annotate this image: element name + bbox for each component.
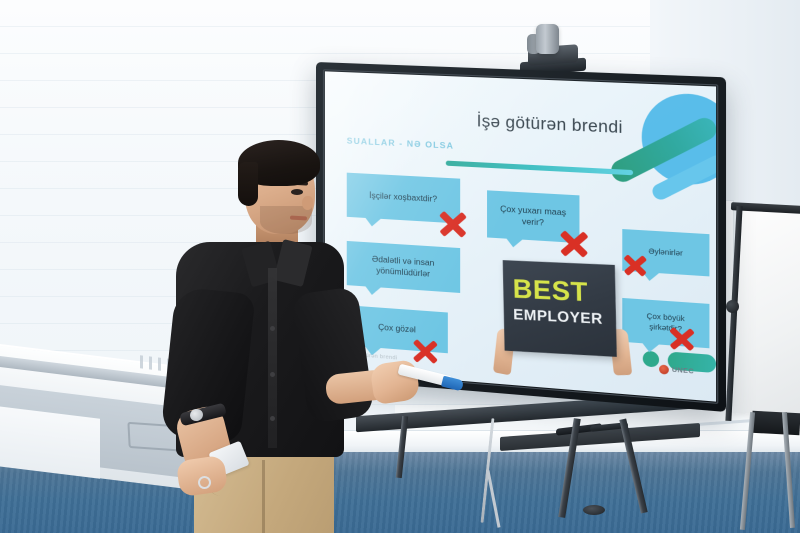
flipchart-adjust-knob[interactable] bbox=[726, 300, 739, 313]
title-underline-rule bbox=[446, 161, 633, 175]
trouser-seam bbox=[262, 460, 265, 533]
unec-logo-text: UNEC bbox=[672, 367, 694, 376]
sign-line-employer: EMPLOYER bbox=[513, 308, 603, 328]
unec-logo-mark-icon bbox=[659, 364, 669, 374]
cross-mark-icon bbox=[558, 227, 590, 260]
cross-mark-icon bbox=[438, 208, 469, 240]
presentation-slide: İşə götürən brendi SUALLAR - NƏ OLSA İşç… bbox=[325, 71, 716, 401]
speech-bubble: Çox böyük şirkətdir? bbox=[622, 298, 709, 348]
cross-mark-icon bbox=[668, 324, 696, 353]
shirt-button bbox=[270, 416, 275, 421]
stand-foot bbox=[583, 505, 605, 515]
presenter-nose bbox=[302, 196, 313, 210]
best-employer-sign: BEST EMPLOYER bbox=[503, 260, 617, 357]
video-conference-camera-icon bbox=[536, 24, 559, 54]
cross-mark-icon bbox=[622, 252, 648, 279]
unec-logo: UNEC bbox=[659, 364, 694, 376]
presenter-hair-side bbox=[238, 162, 258, 206]
left-equipment-panel-white bbox=[0, 405, 100, 479]
shirt-button bbox=[270, 372, 275, 377]
screenshot-scene: İşə götürən brendi SUALLAR - NƏ OLSA İşç… bbox=[0, 0, 800, 533]
display-screen[interactable]: İşə götürən brendi SUALLAR - NƏ OLSA İşç… bbox=[325, 71, 716, 401]
presenter bbox=[150, 140, 380, 533]
flipchart-paper bbox=[732, 208, 800, 416]
shirt-button bbox=[270, 326, 275, 331]
shirt-placket bbox=[268, 268, 277, 448]
presenter-beard-shadow bbox=[260, 206, 312, 234]
presenter-eye bbox=[291, 189, 303, 195]
sign-line-best: BEST bbox=[512, 275, 588, 305]
flipchart-tray bbox=[751, 411, 800, 435]
decoration-dot-green bbox=[643, 351, 659, 368]
cross-mark-icon bbox=[411, 336, 440, 367]
slide-title: İşə götürən brendi bbox=[477, 112, 623, 138]
